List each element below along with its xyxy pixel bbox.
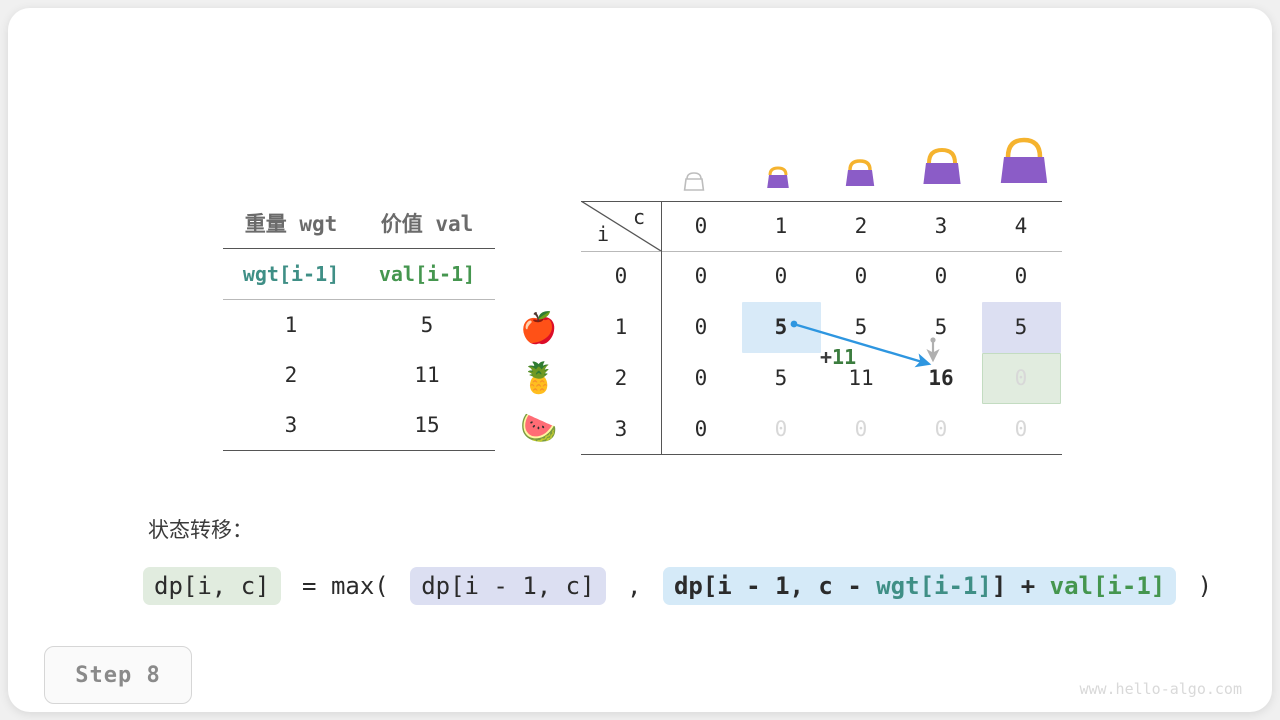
- dp-cell-1-4: 5: [981, 302, 1061, 353]
- formula-val-token: val[i-1]: [1050, 572, 1166, 600]
- dp-cell-2-1: 5: [741, 353, 821, 404]
- dp-col-header-1: 1: [741, 201, 821, 252]
- transition-formula: dp[i, c] = max( dp[i - 1, c] , dp[i - 1,…: [143, 567, 1219, 605]
- dp-cell-3-1: 0: [741, 404, 821, 455]
- item-table: 重量 wgt 价值 val wgt[i-1] val[i-1] 1 5 2 11…: [223, 198, 495, 451]
- header-weight: 重量 wgt: [223, 208, 359, 238]
- dp-cell-1-1: 5: [741, 302, 821, 353]
- item-1-weight: 1: [223, 313, 359, 337]
- dp-cell-2-0: 0: [661, 353, 741, 404]
- formula-lhs: dp[i, c]: [143, 567, 281, 605]
- item-3-weight: 3: [223, 413, 359, 437]
- dp-cell-3-2: 0: [821, 404, 901, 455]
- dp-cell-0-2: 0: [821, 251, 901, 302]
- item-2-weight: 2: [223, 363, 359, 387]
- bag-size-3: [915, 142, 969, 198]
- item-3-value: 15: [359, 413, 495, 437]
- plus-eleven-annotation: +11: [820, 345, 856, 369]
- formula-arg-take: dp[i - 1, c - wgt[i-1]] + val[i-1]: [663, 567, 1176, 605]
- item-row-1: 1 5: [223, 300, 495, 350]
- plus-sign: +: [820, 345, 832, 369]
- item-1-value: 5: [359, 313, 495, 337]
- dp-cell-0-4: 0: [981, 251, 1061, 302]
- bag-icon-row: [661, 136, 1061, 198]
- dp-col-header-0: 0: [661, 201, 741, 252]
- dp-cell-3-4: 0: [981, 404, 1061, 455]
- dp-cell-3-0: 0: [661, 404, 741, 455]
- dp-cell-0-3: 0: [901, 251, 981, 302]
- formula-arg-skip: dp[i - 1, c]: [410, 567, 605, 605]
- dp-row-label-1: 1: [581, 302, 661, 353]
- apple-icon: 🍎: [516, 304, 562, 354]
- dp-row-label-3: 3: [581, 404, 661, 455]
- bag-size-0: [681, 168, 707, 198]
- item-table-subheader-row: wgt[i-1] val[i-1]: [223, 249, 495, 299]
- formula-comma: ,: [606, 572, 663, 600]
- dp-col-header-2: 2: [821, 201, 901, 252]
- step-badge: Step 8: [44, 646, 192, 704]
- formula-eq: = max(: [281, 572, 411, 600]
- dp-cell-0-1: 0: [741, 251, 821, 302]
- bag-size-4: [991, 132, 1057, 198]
- dp-cell-1-0: 0: [661, 302, 741, 353]
- dp-col-header-3: 3: [901, 201, 981, 252]
- dp-cell-2-3: 16: [901, 353, 981, 404]
- transition-label: 状态转移：: [148, 514, 253, 544]
- item-row-2: 2 11: [223, 350, 495, 400]
- dp-cell-0-0: 0: [661, 251, 741, 302]
- watermelon-icon: 🍉: [516, 404, 562, 454]
- dp-row-3: 3 0 0 0 0 0: [581, 404, 1062, 455]
- dp-cell-1-3: 5: [901, 302, 981, 353]
- bag-size-2: [839, 152, 881, 198]
- dp-cell-3-3: 0: [901, 404, 981, 455]
- dp-row-0: 0 0 0 0 0 0: [581, 251, 1062, 302]
- formula-wgt-token: wgt[i-1]: [876, 572, 992, 600]
- item-table-rule-bottom: [223, 450, 495, 451]
- footer-url: www.hello-algo.com: [1079, 680, 1242, 698]
- formula-arg-take-mid: ] +: [992, 572, 1050, 600]
- subheader-wgt: wgt[i-1]: [223, 262, 359, 286]
- dp-cell-2-4: 0: [981, 353, 1061, 404]
- pineapple-icon: 🍍: [516, 354, 562, 404]
- plus-value: 11: [832, 345, 856, 369]
- bag-size-1: [761, 160, 795, 198]
- slide-card: 重量 wgt 价值 val wgt[i-1] val[i-1] 1 5 2 11…: [8, 8, 1272, 712]
- dp-row-label-0: 0: [581, 251, 661, 302]
- item-row-3: 3 15: [223, 400, 495, 450]
- header-value: 价值 val: [359, 208, 495, 238]
- dp-row-label-2: 2: [581, 353, 661, 404]
- formula-arg-take-prefix: dp[i - 1, c -: [674, 572, 876, 600]
- dp-column-header-row: 0 1 2 3 4: [581, 201, 1062, 252]
- subheader-val: val[i-1]: [359, 262, 495, 286]
- item-2-value: 11: [359, 363, 495, 387]
- dp-col-header-4: 4: [981, 201, 1061, 252]
- formula-close-paren: ): [1176, 572, 1219, 600]
- item-table-header-row: 重量 wgt 价值 val: [223, 198, 495, 248]
- fruit-icon-column: 🍎 🍍 🍉: [516, 304, 562, 454]
